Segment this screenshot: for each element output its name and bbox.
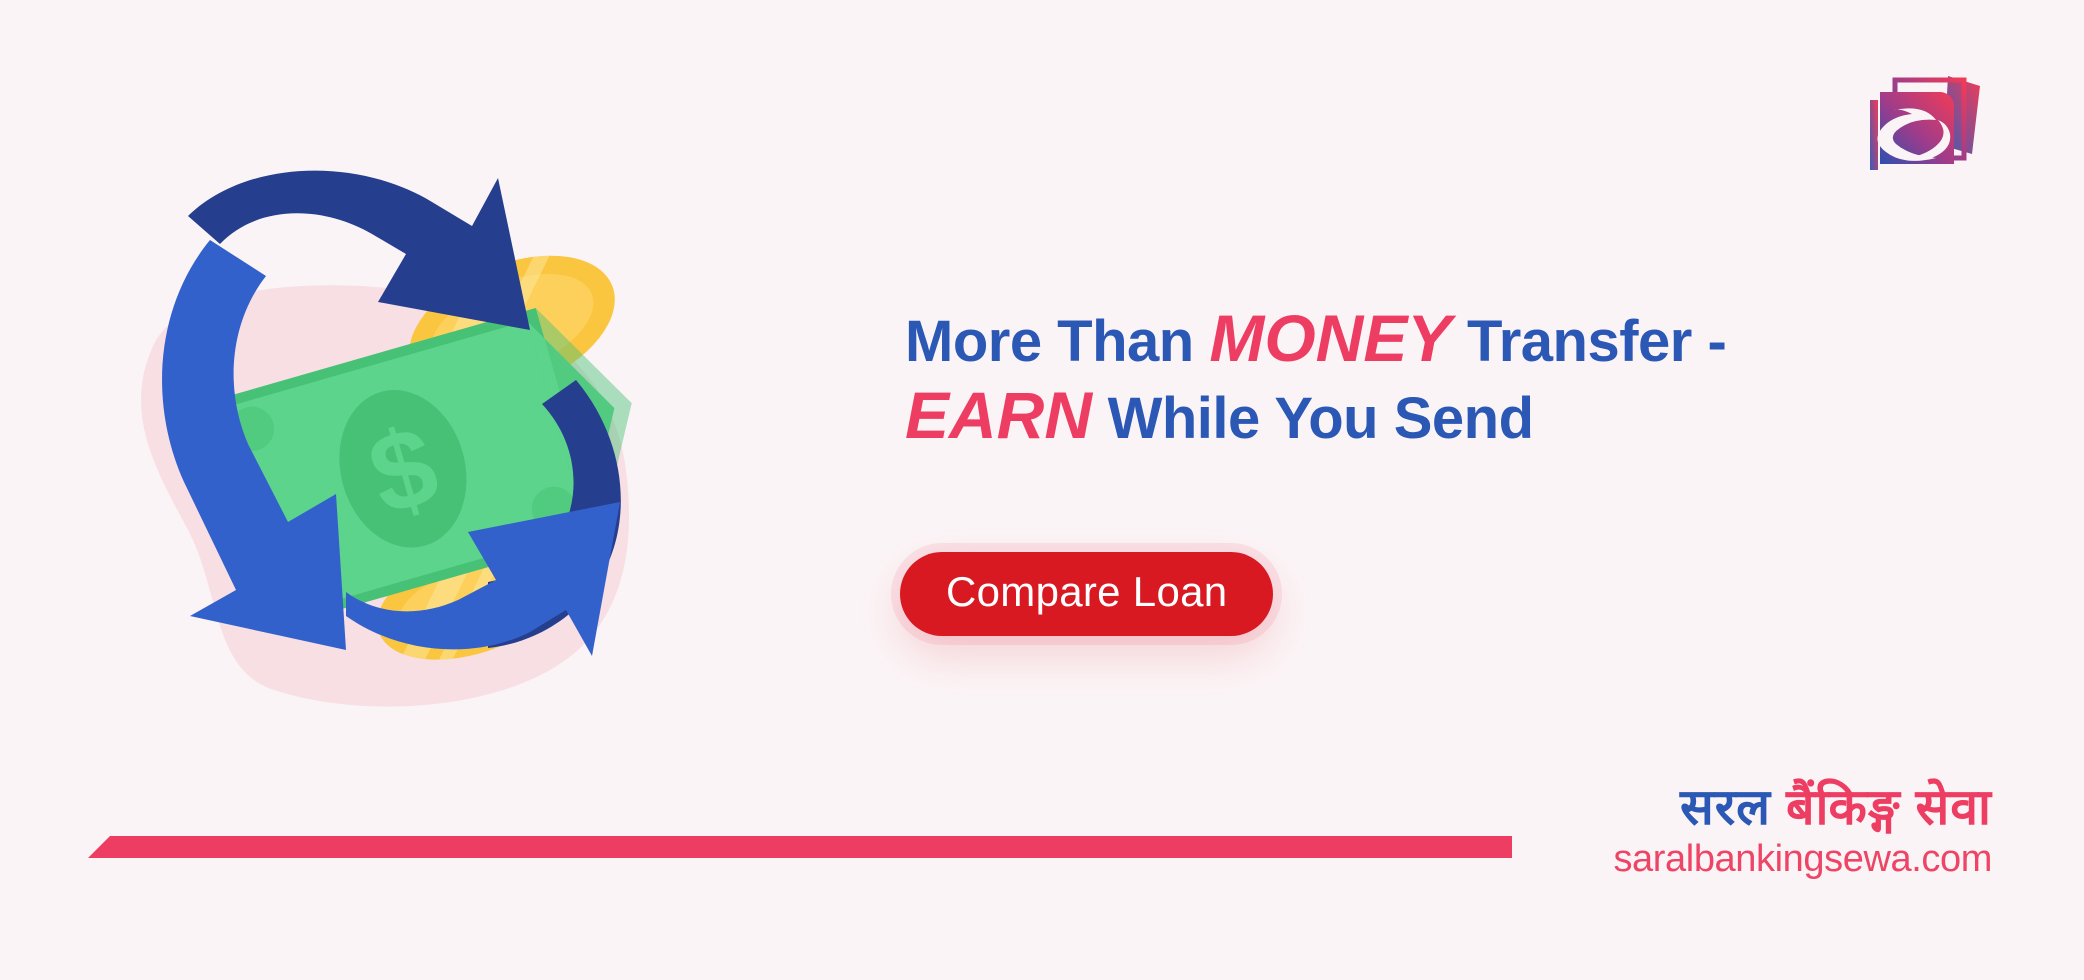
cta-container: Compare Loan [900,552,1273,636]
money-transfer-illustration: $ [60,130,800,750]
headline-text-transfer: Transfer - [1451,309,1726,374]
headline-highlight-earn: EARN [905,378,1092,452]
compare-loan-button[interactable]: Compare Loan [900,552,1273,636]
headline-text-while-you-send: While You Send [1092,386,1534,451]
illustration-svg: $ [60,130,800,750]
headline-line-1: More Than MONEY Transfer - [905,300,1995,377]
promo-banner: $ [0,0,2084,980]
brand-website-url[interactable]: saralbankingsewa.com [1472,840,1992,878]
brand-word-saral: सरल [1680,779,1771,835]
accent-divider-bar [88,836,1512,858]
headline-line-2: EARN While You Send [905,377,1995,454]
headline-text-more-than: More Than [905,309,1209,374]
headline: More Than MONEY Transfer - EARN While Yo… [905,300,1995,453]
headline-highlight-money: MONEY [1209,301,1451,375]
logo-icon [1852,58,1992,178]
brand-word-banking-sewa: बैंकिङ्ग सेवा [1786,779,1992,835]
brand-logo[interactable] [1852,58,1992,178]
brand-name-devanagari: सरल बैंकिङ्ग सेवा [1472,780,1992,834]
brand-lockup: सरल बैंकिङ्ग सेवा saralbankingsewa.com [1472,780,1992,878]
